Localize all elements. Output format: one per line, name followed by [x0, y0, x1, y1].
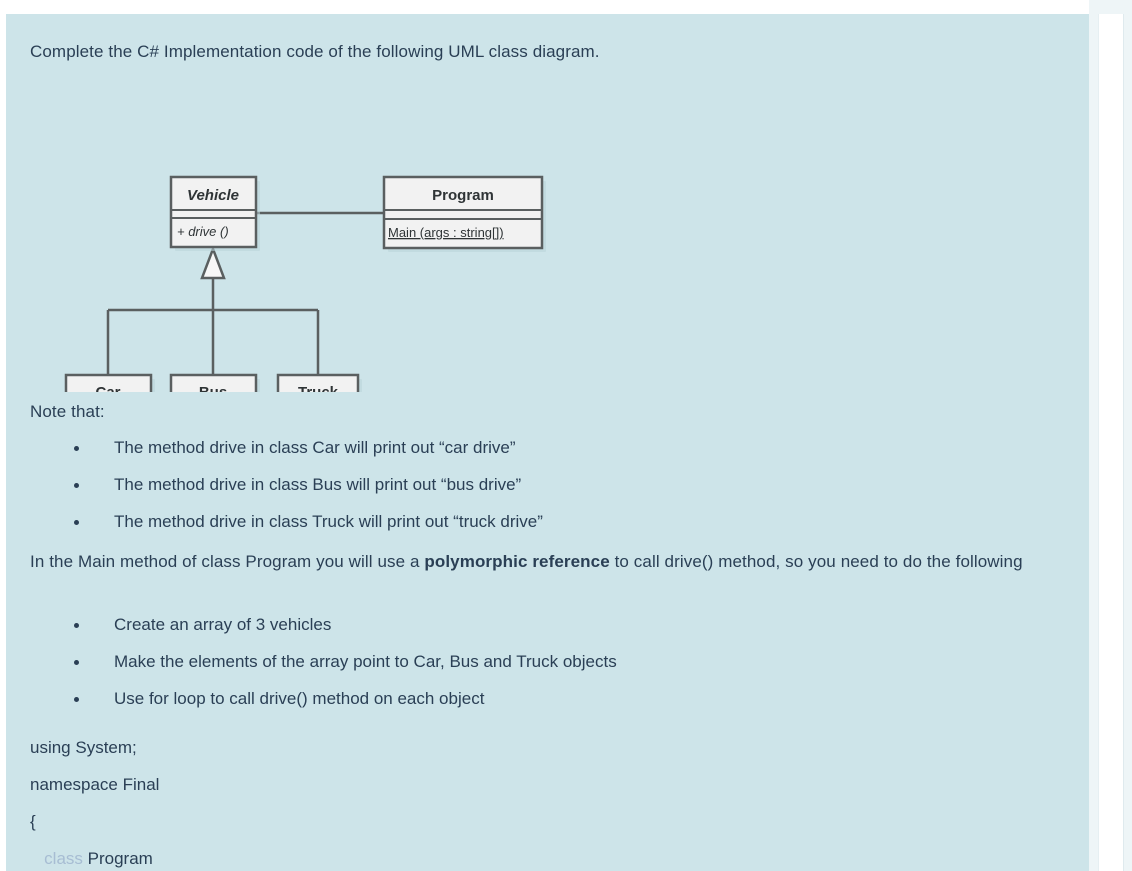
bullet-dot-icon	[74, 623, 79, 628]
instruction-prefix: In the Main method of class Program you …	[30, 552, 424, 571]
code-keyword-class: class	[44, 849, 83, 868]
intro-paragraph: Complete the C# Implementation code of t…	[30, 40, 1030, 64]
code-line-class-program: class Program	[30, 840, 1030, 871]
uml-class-car-title: Car	[95, 384, 120, 392]
bullet-dot-icon	[74, 660, 79, 665]
uml-class-diagram: Vehicle + drive () Program Main (args : …	[6, 82, 1089, 392]
code-line-using: using System;	[30, 729, 1030, 766]
question-content-panel: Complete the C# Implementation code of t…	[6, 14, 1089, 871]
code-snippet: using System; namespace Final { class Pr…	[30, 729, 1030, 871]
uml-class-truck-title: Truck	[298, 384, 339, 392]
generalization-arrowhead-icon	[202, 249, 224, 278]
note-bullet-list: The method drive in class Car will print…	[30, 437, 1030, 548]
list-item: Create an array of 3 vehicles	[30, 614, 1030, 651]
instruction-bullet-list: Create an array of 3 vehicles Make the e…	[30, 614, 1030, 725]
scrollbar-gutter	[1089, 0, 1132, 871]
note-heading-text: Note that:	[30, 402, 105, 421]
instruction-item-1: Make the elements of the array point to …	[114, 651, 1030, 673]
instruction-paragraph: In the Main method of class Program you …	[30, 550, 1070, 574]
uml-class-car: Car + drive ()	[66, 375, 155, 392]
code-line-open-brace: {	[30, 803, 1030, 840]
uml-class-vehicle-member-0: + drive ()	[177, 224, 229, 239]
intro-text: Complete the C# Implementation code of t…	[30, 42, 600, 61]
uml-class-program: Program Main (args : string[])	[384, 177, 546, 252]
bullet-dot-icon	[74, 520, 79, 525]
note-heading: Note that:	[30, 400, 105, 424]
instruction-item-2: Use for loop to call drive() method on e…	[114, 688, 1030, 710]
scrollbar-track[interactable]	[1098, 14, 1124, 871]
list-item: The method drive in class Bus will print…	[30, 474, 1030, 511]
instruction-emphasis: polymorphic reference	[424, 552, 609, 571]
uml-class-bus-title: Bus	[199, 384, 227, 392]
note-item-2: The method drive in class Truck will pri…	[114, 511, 1030, 533]
code-line-namespace: namespace Final	[30, 766, 1030, 803]
uml-class-vehicle: Vehicle + drive ()	[171, 177, 260, 251]
note-item-0: The method drive in class Car will print…	[114, 437, 1030, 459]
bullet-dot-icon	[74, 697, 79, 702]
instruction-suffix: to call drive() method, so you need to d…	[610, 552, 1023, 571]
bullet-dot-icon	[74, 483, 79, 488]
instruction-item-0: Create an array of 3 vehicles	[114, 614, 1030, 636]
list-item: Make the elements of the array point to …	[30, 651, 1030, 688]
uml-class-vehicle-title: Vehicle	[187, 187, 239, 204]
list-item: The method drive in class Car will print…	[30, 437, 1030, 474]
uml-class-program-member-0: Main (args : string[])	[388, 225, 504, 240]
page-root: Complete the C# Implementation code of t…	[0, 0, 1132, 871]
bullet-dot-icon	[74, 446, 79, 451]
list-item: Use for loop to call drive() method on e…	[30, 688, 1030, 725]
uml-class-bus: Bus + drive ()	[171, 375, 260, 392]
uml-class-program-title: Program	[432, 187, 494, 204]
uml-class-truck: Truck + drive ()	[278, 375, 362, 392]
note-item-1: The method drive in class Bus will print…	[114, 474, 1030, 496]
code-class-name: Program	[83, 849, 153, 868]
list-item: The method drive in class Truck will pri…	[30, 511, 1030, 548]
